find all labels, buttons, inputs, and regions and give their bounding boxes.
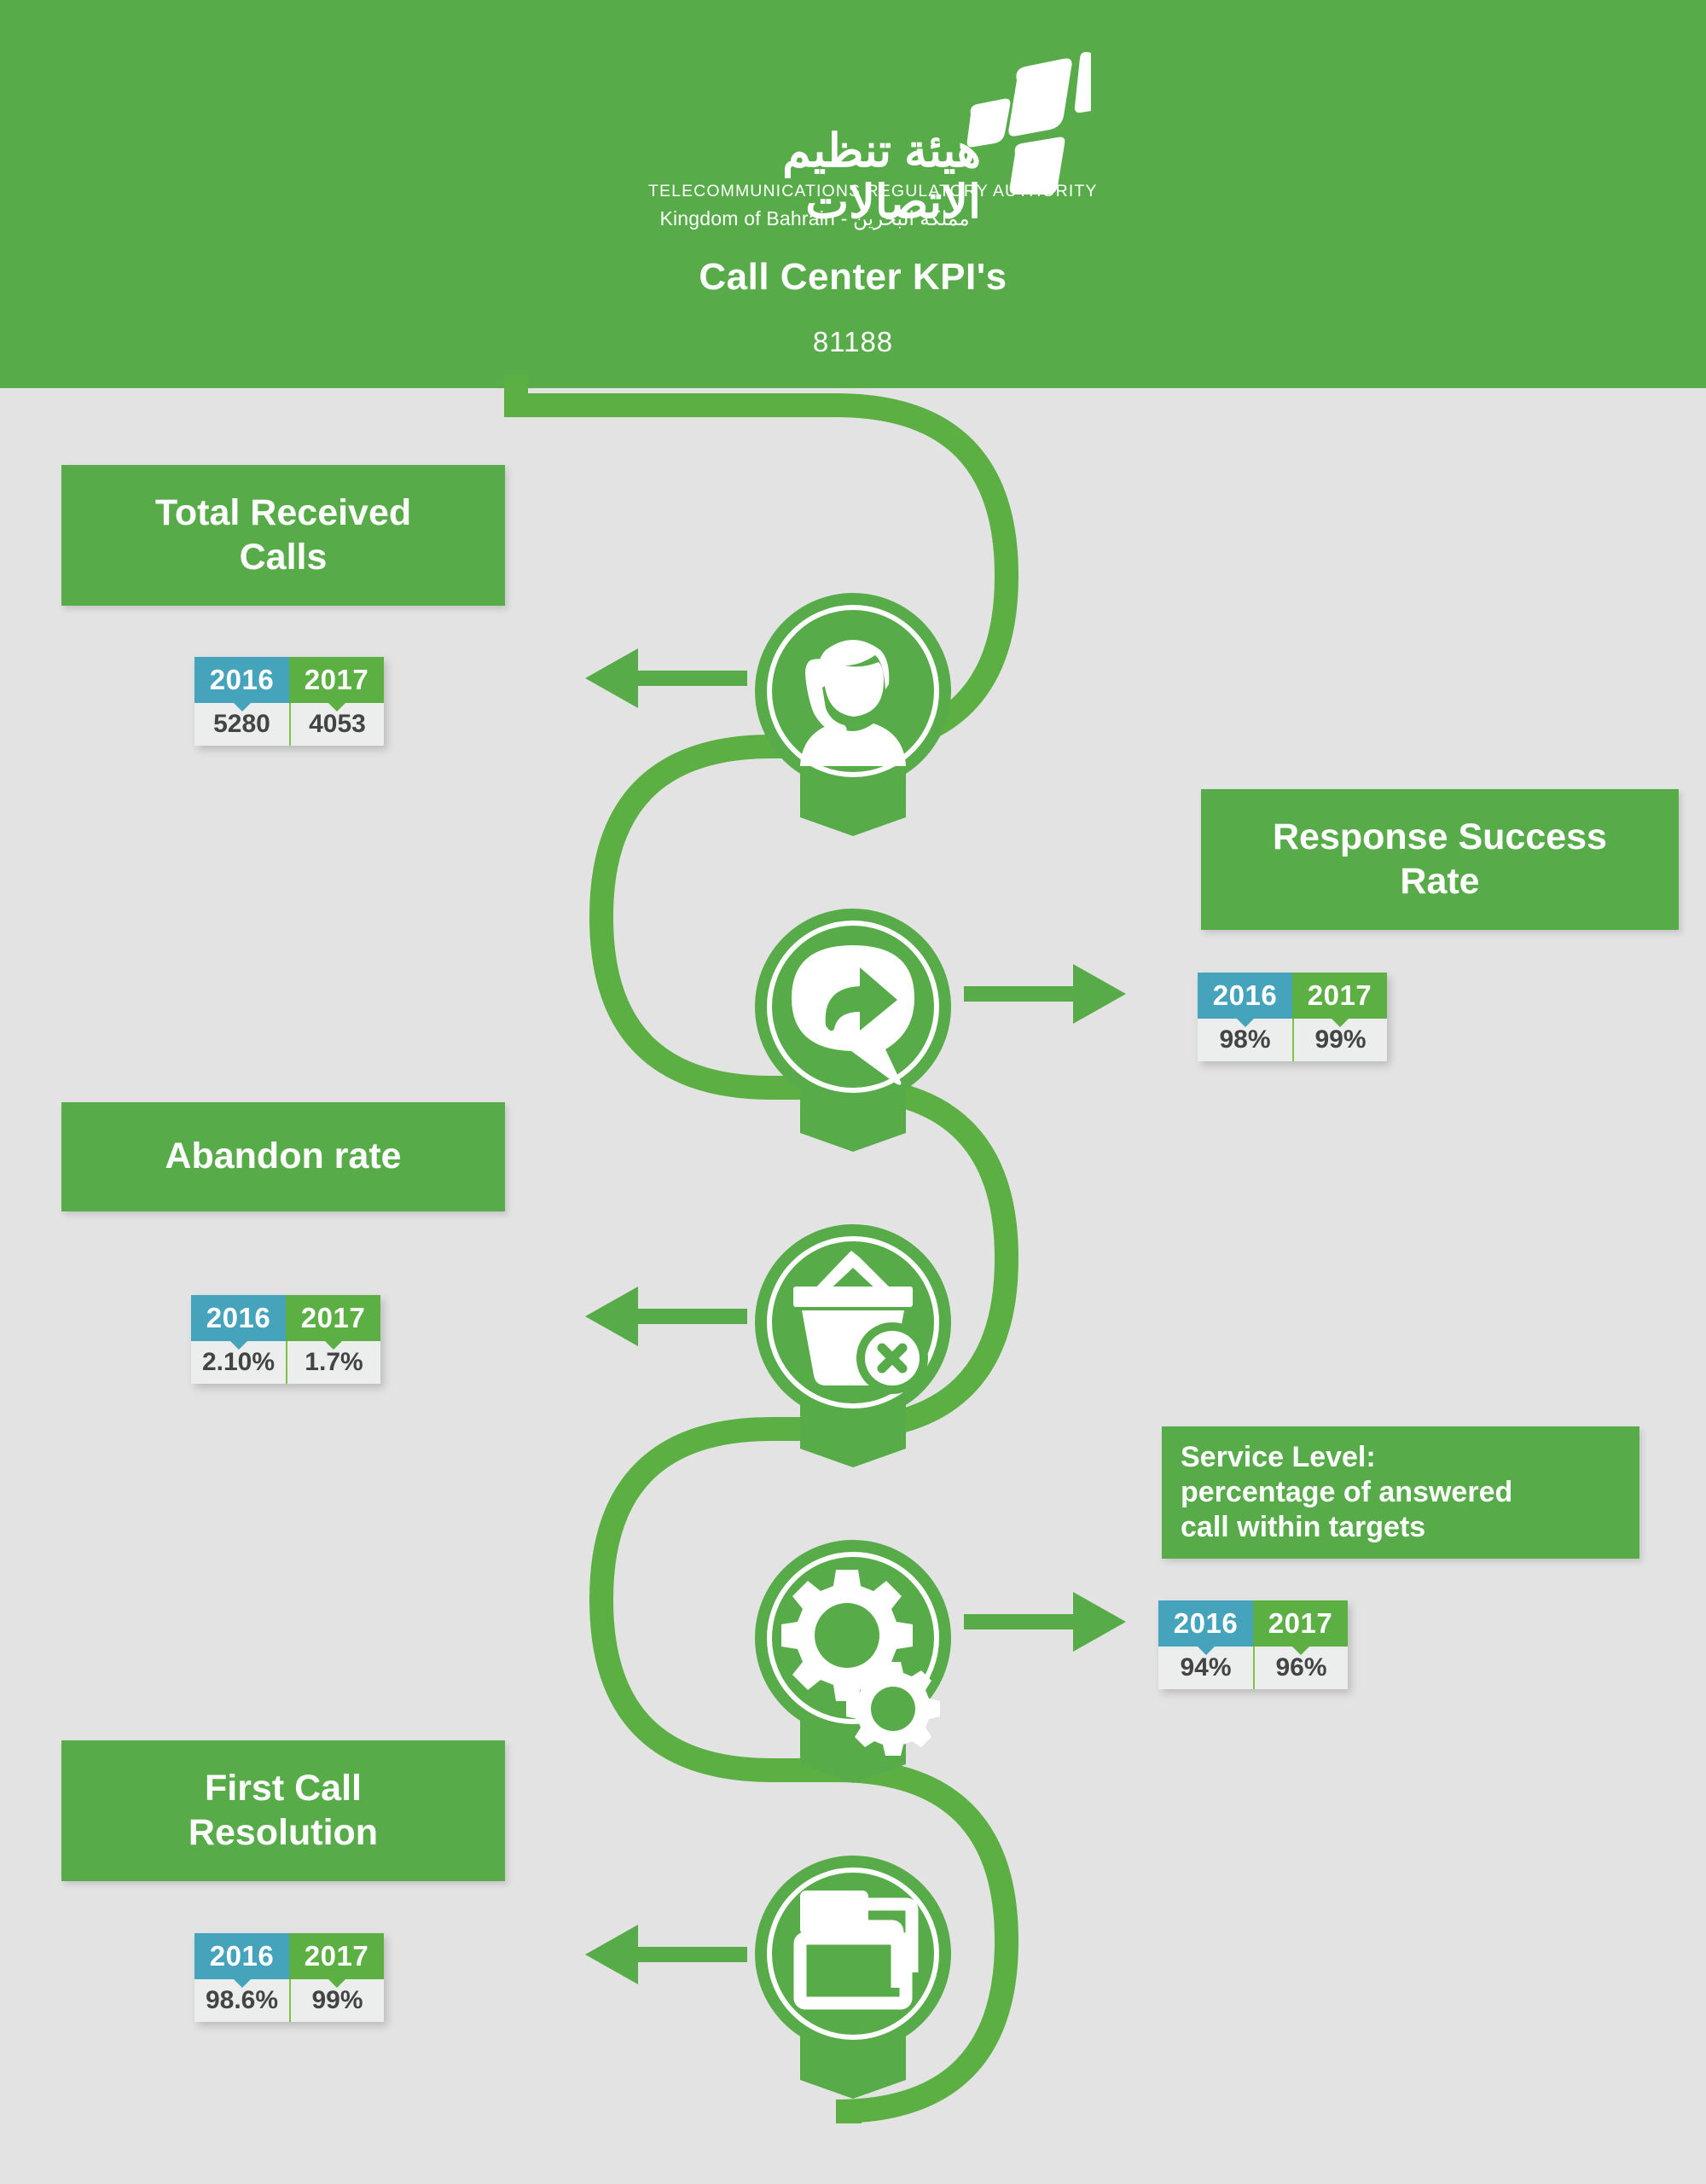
speech-bubble-forward-icon bbox=[751, 904, 955, 1152]
label-line: Rate bbox=[1273, 860, 1607, 904]
logo-arabic-name: هيئة تنظيم الاتصالات bbox=[648, 125, 981, 177]
label-box-first-call-resolution: First Call Resolution bbox=[61, 1740, 505, 1881]
label-box-abandon-rate: Abandon rate bbox=[61, 1102, 505, 1211]
page-title: Call Center KPI's bbox=[0, 256, 1706, 299]
label-line: Resolution bbox=[189, 1811, 378, 1856]
table-header-2017: 2017 bbox=[1292, 973, 1387, 1019]
label-box-service-level: Service Level: percentage of answered ca… bbox=[1162, 1426, 1639, 1559]
label-line: Calls bbox=[155, 536, 411, 580]
table-column-2017: 2017 99% bbox=[1292, 973, 1387, 1061]
table-column-2016: 2016 5280 bbox=[194, 657, 289, 746]
headset-agent-icon bbox=[751, 589, 955, 836]
table-header-2016: 2016 bbox=[194, 1933, 289, 1979]
label-line: Abandon rate bbox=[165, 1135, 401, 1179]
table-total-received-calls: 2016 5280 2017 4053 bbox=[194, 657, 384, 746]
label-line: Service Level: bbox=[1181, 1440, 1512, 1475]
label-box-response-success-rate: Response Success Rate bbox=[1201, 789, 1679, 930]
logo-kingdom-line: Kingdom of Bahrain - مملكة البحرين bbox=[648, 207, 981, 230]
table-header-2017: 2017 bbox=[289, 1933, 384, 1979]
table-column-2016: 2016 94% bbox=[1158, 1600, 1253, 1689]
arrow-right-icon bbox=[964, 1592, 1126, 1652]
label-box-total-received-calls: Total Received Calls bbox=[61, 465, 505, 606]
arrow-left-icon bbox=[585, 1287, 747, 1346]
arrow-left-icon bbox=[585, 1925, 747, 1984]
arrow-right-icon bbox=[964, 964, 1126, 1024]
table-header-2016: 2016 bbox=[191, 1295, 286, 1341]
table-response-success-rate: 2016 98% 2017 99% bbox=[1198, 973, 1387, 1061]
table-header-2016: 2016 bbox=[1158, 1600, 1253, 1647]
table-column-2017: 2017 96% bbox=[1253, 1600, 1348, 1689]
stacked-windows-icon bbox=[751, 1851, 955, 2099]
table-column-2016: 2016 2.10% bbox=[191, 1295, 286, 1384]
table-column-2017: 2017 4053 bbox=[289, 657, 384, 746]
table-header-2017: 2017 bbox=[1253, 1600, 1348, 1647]
table-column-2017: 2017 99% bbox=[289, 1933, 384, 2022]
label-line: Total Received bbox=[155, 491, 411, 536]
table-first-call-resolution: 2016 98.6% 2017 99% bbox=[194, 1933, 384, 2022]
table-abandon-rate: 2016 2.10% 2017 1.7% bbox=[191, 1295, 380, 1384]
table-service-level: 2016 94% 2017 96% bbox=[1158, 1600, 1348, 1689]
page-header: هيئة تنظيم الاتصالات TELECOMMUNICATIONS … bbox=[0, 0, 1706, 388]
basket-cancel-icon bbox=[751, 1220, 955, 1467]
label-line: call within targets bbox=[1181, 1510, 1512, 1545]
label-line: Response Success bbox=[1273, 816, 1607, 860]
gears-icon bbox=[751, 1536, 955, 1783]
tra-logo-mark-icon bbox=[964, 51, 1092, 196]
logo-english-name: TELECOMMUNICATIONS REGULATORY AUTHORITY bbox=[648, 182, 981, 201]
table-header-2016: 2016 bbox=[1198, 973, 1292, 1019]
table-header-2016: 2016 bbox=[194, 657, 289, 703]
label-line: First Call bbox=[189, 1767, 378, 1811]
arrow-left-icon bbox=[585, 648, 747, 708]
table-header-2017: 2017 bbox=[289, 657, 384, 703]
table-column-2017: 2017 1.7% bbox=[286, 1295, 380, 1384]
label-line: percentage of answered bbox=[1181, 1475, 1512, 1510]
table-column-2016: 2016 98.6% bbox=[194, 1933, 289, 2022]
table-header-2017: 2017 bbox=[286, 1295, 380, 1341]
tra-logo: هيئة تنظيم الاتصالات TELECOMMUNICATIONS … bbox=[648, 47, 1007, 200]
table-column-2016: 2016 98% bbox=[1198, 973, 1292, 1061]
page-subtitle: 81188 bbox=[0, 326, 1706, 358]
